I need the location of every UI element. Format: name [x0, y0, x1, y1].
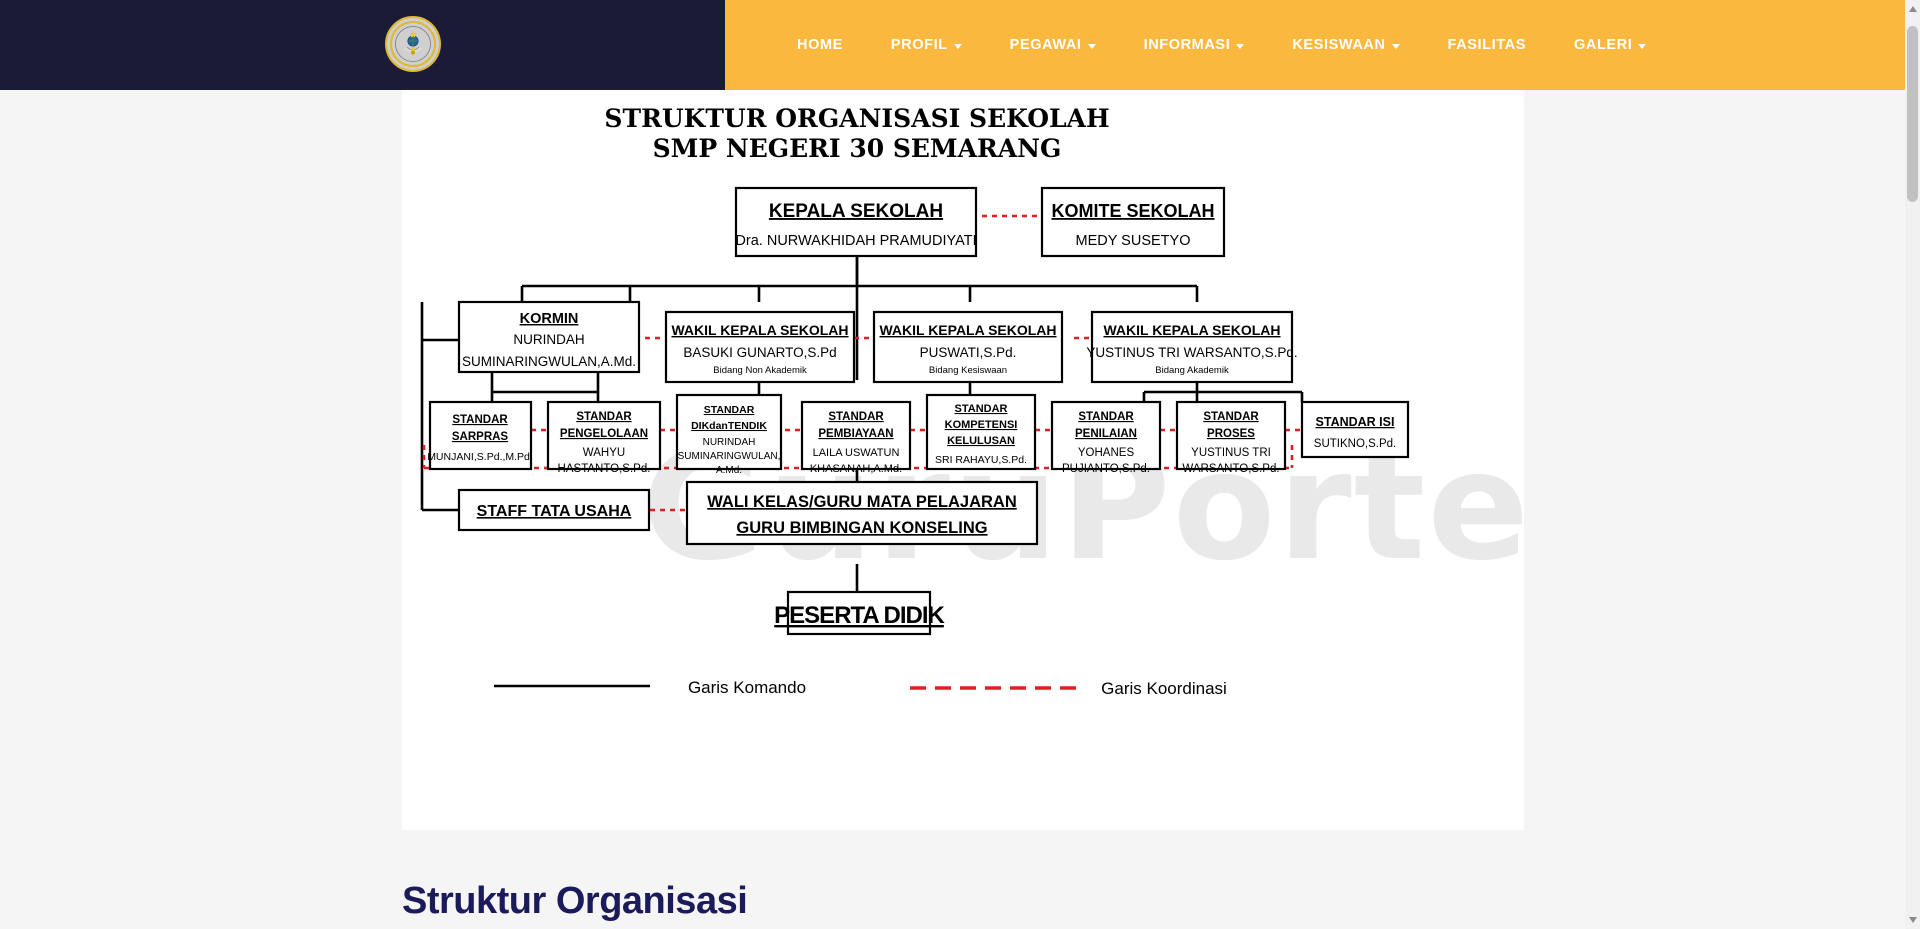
chart-title-line2: SMP NEGERI 30 SEMARANG	[653, 134, 1062, 163]
standar-isi-name: SUTIKNO,S.Pd.	[1314, 438, 1396, 450]
standar-proses-title2: PROSES	[1207, 428, 1255, 440]
wali-kelas-title1: WALI KELAS/GURU MATA PELAJARAN	[707, 493, 1017, 511]
standar-penilaian-title1: STANDAR	[1078, 411, 1134, 423]
nav-label: PROFIL	[891, 37, 948, 53]
nav-label: HOME	[797, 37, 843, 53]
standar-sarpras-title2: SARPRAS	[452, 431, 509, 443]
standar-sarpras-title1: STANDAR	[452, 414, 508, 426]
node-wakil-non-akademik: WAKIL KEPALA SEKOLAH BASUKI GUNARTO,S.Pd…	[666, 312, 854, 382]
standar-pengelolaan-name2: HASTANTO,S.Pd.	[558, 463, 651, 475]
legend-label-koordinasi: Garis Koordinasi	[1101, 679, 1227, 698]
nav-label: PEGAWAI	[1010, 37, 1082, 53]
node-standar-proses: STANDAR PROSES YUSTINUS TRI WARSANTO,S.P…	[1177, 402, 1285, 475]
chevron-down-icon	[954, 44, 962, 49]
standar-proses-title1: STANDAR	[1203, 411, 1259, 423]
standar-penilaian-name2: PUJIANTO,S.Pd.	[1062, 463, 1150, 475]
standar-kompetensi-title2: KOMPETENSI	[945, 419, 1018, 431]
main-navigation: HOME PROFIL PEGAWAI INFORMASI KESISWAAN …	[773, 27, 1670, 63]
chevron-down-icon	[1392, 44, 1400, 49]
komite-sekolah-name: MEDY SUSETYO	[1076, 233, 1191, 249]
wakil-non-akademik-title: WAKIL KEPALA SEKOLAH	[671, 322, 848, 338]
node-kepala-sekolah: KEPALA SEKOLAH Dra. NURWAKHIDAH PRAMUDIY…	[735, 188, 976, 256]
chevron-down-icon	[1638, 44, 1646, 49]
scroll-up-icon[interactable]	[1909, 6, 1917, 12]
chevron-down-icon	[1236, 44, 1244, 49]
node-peserta-didik: PESERTA DIDIK	[774, 592, 945, 634]
wakil-kesiswaan-name: PUSWATI,S.Pd.	[920, 345, 1017, 360]
nav-label: KESISWAAN	[1292, 37, 1385, 53]
wali-kelas-title2: GURU BIMBINGAN KONSELING	[736, 519, 987, 537]
page-body: GuruPorte .bx { fill:#ffffff; stroke:#00…	[0, 90, 1920, 929]
standar-pembiayaan-name2: KHASANAH,A.Md.	[810, 463, 902, 475]
node-standar-isi: STANDAR ISI SUTIKNO,S.Pd.	[1302, 402, 1408, 457]
node-standar-kompetensi-kelulusan: STANDAR KOMPETENSI KELULUSAN SRI RAHAYU,…	[927, 395, 1035, 469]
nav-label: INFORMASI	[1144, 37, 1231, 53]
standar-kompetensi-title3: KELULUSAN	[947, 435, 1015, 447]
node-wali-kelas: WALI KELAS/GURU MATA PELAJARAN GURU BIMB…	[687, 482, 1037, 544]
standar-proses-name: YUSTINUS TRI	[1191, 447, 1271, 459]
wakil-akademik-title: WAKIL KEPALA SEKOLAH	[1103, 322, 1280, 338]
kormin-title: KORMIN	[520, 311, 579, 327]
node-standar-sarpras: STANDAR SARPRAS MUNJANI,S.Pd.,M.Pd.	[427, 402, 533, 469]
node-standar-dikdantendik: STANDAR DIKdanTENDIK NURINDAH SUMINARING…	[677, 395, 781, 476]
nav-label: GALERI	[1574, 37, 1632, 53]
wakil-non-akademik-sub: Bidang Non Akademik	[713, 365, 807, 376]
node-kormin: KORMIN NURINDAH SUMINARINGWULAN,A.Md.	[459, 302, 639, 372]
standar-kompetensi-title1: STANDAR	[955, 403, 1008, 415]
legend-label-komando: Garis Komando	[688, 678, 806, 697]
header-brand-area	[0, 0, 725, 90]
chevron-down-icon	[1088, 44, 1096, 49]
org-chart-card: GuruPorte .bx { fill:#ffffff; stroke:#00…	[402, 90, 1524, 830]
standar-proses-name2: WARSANTO,S.Pd.	[1182, 463, 1279, 475]
staff-tata-usaha-title: STAFF TATA USAHA	[477, 503, 632, 520]
nav-label: FASILITAS	[1448, 37, 1526, 53]
peserta-didik-title: PESERTA DIDIK	[774, 602, 945, 629]
page-scrollbar-thumb[interactable]	[1907, 26, 1918, 202]
nav-item-pegawai[interactable]: PEGAWAI	[986, 27, 1120, 63]
nav-item-informasi[interactable]: INFORMASI	[1120, 27, 1269, 63]
node-standar-pengelolaan: STANDAR PENGELOLAAN WAHYU HASTANTO,S.Pd.	[548, 402, 660, 475]
kormin-name: NURINDAH	[513, 332, 584, 347]
page-title: Struktur Organisasi	[402, 880, 747, 923]
node-staff-tata-usaha: STAFF TATA USAHA	[459, 490, 649, 530]
standar-pembiayaan-title1: STANDAR	[828, 411, 884, 423]
standar-dikdantendik-name2: SUMINARINGWULAN,	[678, 451, 781, 462]
standar-kompetensi-name: SRI RAHAYU,S.Pd.	[935, 454, 1027, 466]
kepala-sekolah-name: Dra. NURWAKHIDAH PRAMUDIYATI	[735, 233, 976, 249]
kepala-sekolah-title: KEPALA SEKOLAH	[769, 201, 943, 222]
nav-item-galeri[interactable]: GALERI	[1550, 27, 1670, 63]
kormin-name2: SUMINARINGWULAN,A.Md.	[462, 354, 636, 369]
chart-legend: Garis Komando Garis Koordinasi	[494, 678, 1227, 698]
standar-pembiayaan-name: LAILA USWATUN	[813, 447, 900, 459]
header-nav-area: HOME PROFIL PEGAWAI INFORMASI KESISWAAN …	[725, 0, 1920, 90]
standar-dikdantendik-name: NURINDAH	[703, 437, 756, 448]
nav-item-fasilitas[interactable]: FASILITAS	[1424, 27, 1550, 63]
wakil-akademik-name: YUSTINUS TRI WARSANTO,S.Pd.	[1086, 345, 1297, 360]
school-logo-icon[interactable]	[385, 16, 441, 72]
wakil-kesiswaan-title: WAKIL KEPALA SEKOLAH	[879, 322, 1056, 338]
scroll-down-icon[interactable]	[1909, 917, 1917, 923]
nav-item-kesiswaan[interactable]: KESISWAAN	[1268, 27, 1423, 63]
standar-dikdantendik-name3: A.Md.	[716, 465, 742, 476]
site-header: HOME PROFIL PEGAWAI INFORMASI KESISWAAN …	[0, 0, 1920, 90]
standar-sarpras-name: MUNJANI,S.Pd.,M.Pd.	[427, 451, 533, 463]
standar-penilaian-name: YOHANES	[1078, 447, 1135, 459]
wakil-kesiswaan-sub: Bidang Kesiswaan	[929, 365, 1007, 376]
komite-sekolah-title: KOMITE SEKOLAH	[1051, 201, 1214, 221]
node-standar-penilaian: STANDAR PENILAIAN YOHANES PUJIANTO,S.Pd.	[1052, 402, 1160, 475]
node-komite-sekolah: KOMITE SEKOLAH MEDY SUSETYO	[1042, 188, 1224, 256]
chart-title-line1: STRUKTUR ORGANISASI SEKOLAH	[604, 104, 1109, 133]
nav-item-profil[interactable]: PROFIL	[867, 27, 986, 63]
node-wakil-kesiswaan: WAKIL KEPALA SEKOLAH PUSWATI,S.Pd. Bidan…	[874, 312, 1062, 382]
standar-pengelolaan-title1: STANDAR	[576, 411, 632, 423]
nav-item-home[interactable]: HOME	[773, 27, 867, 63]
standar-pengelolaan-name: WAHYU	[583, 447, 625, 459]
org-chart-diagram: .bx { fill:#ffffff; stroke:#000000; stro…	[402, 90, 1524, 830]
node-wakil-akademik: WAKIL KEPALA SEKOLAH YUSTINUS TRI WARSAN…	[1086, 312, 1297, 382]
standar-pengelolaan-title2: PENGELOLAAN	[560, 428, 648, 440]
wakil-akademik-sub: Bidang Akademik	[1155, 365, 1229, 376]
node-standar-pembiayaan: STANDAR PEMBIAYAAN LAILA USWATUN KHASANA…	[802, 402, 910, 475]
standar-isi-title1: STANDAR ISI	[1316, 415, 1395, 429]
standar-dikdantendik-title2: DIKdanTENDIK	[691, 420, 767, 432]
standar-pembiayaan-title2: PEMBIAYAAN	[818, 428, 893, 440]
wakil-non-akademik-name: BASUKI GUNARTO,S.Pd	[683, 345, 836, 360]
standar-dikdantendik-title1: STANDAR	[704, 404, 755, 416]
standar-penilaian-title2: PENILAIAN	[1075, 428, 1137, 440]
